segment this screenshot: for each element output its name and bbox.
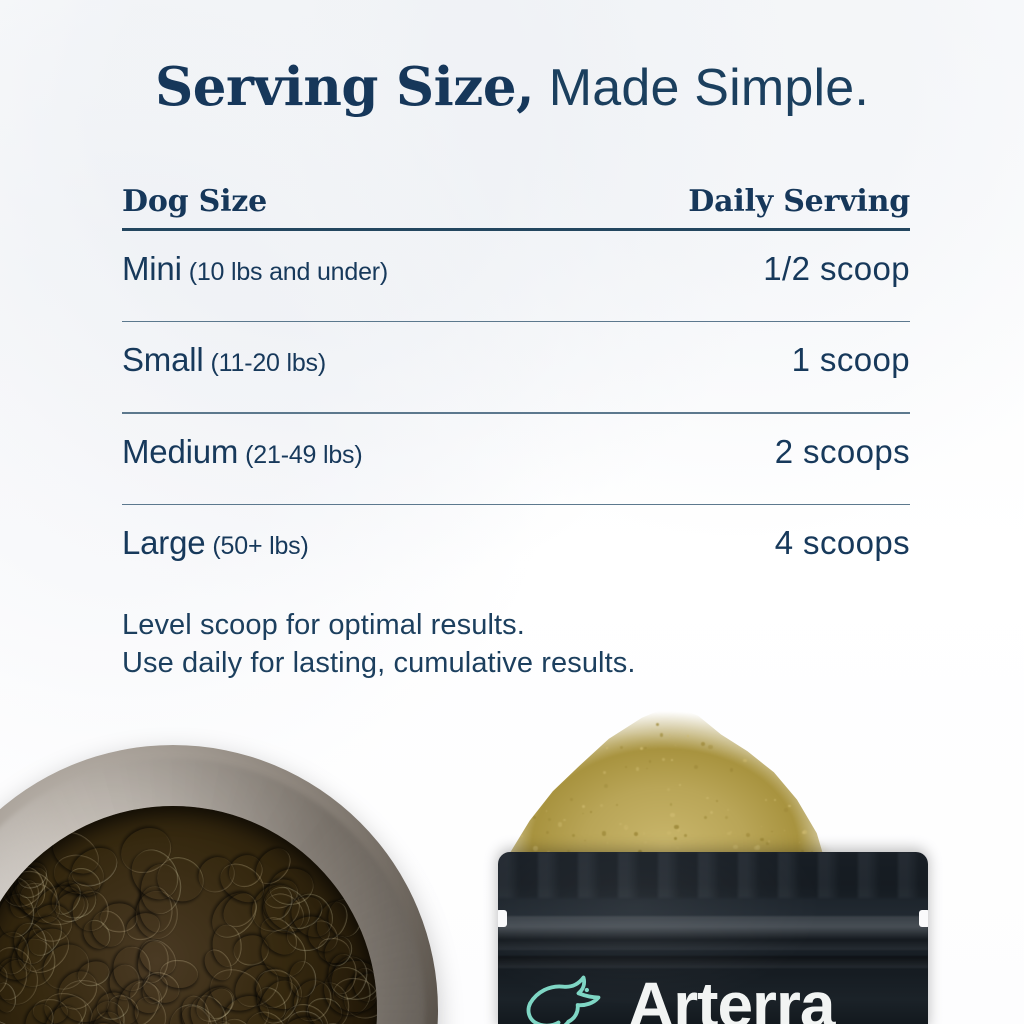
kibble-pile [0,806,377,1024]
powder-grain [793,741,797,745]
powder-grain [625,766,627,768]
powder-grain [521,733,523,735]
powder-grain [616,804,618,806]
dog-size-name: Medium [122,433,238,470]
powder-grain [768,840,770,842]
powder-grain [706,797,709,800]
column-header-dog-size: Dog Size [122,184,267,219]
brand-lockup: Arterra [520,970,834,1024]
powder-grain [795,755,798,758]
powder-grain [820,752,822,754]
powder-grain [643,832,646,835]
product-photography: Arterra [0,560,1024,1024]
powder-grain [809,801,813,805]
powder-grain [821,776,823,778]
dog-size-cell: Small(11-20 lbs) [122,341,326,379]
powder-grain [575,763,578,766]
dog-size-name: Mini [122,250,182,287]
powder-grain [808,751,809,752]
powder-grain [533,846,538,851]
powder-grain [776,734,779,737]
powder-grain [570,798,573,801]
powder-grain [644,841,647,844]
powder-grain [717,728,719,730]
powder-grain [727,832,730,835]
powder-grain [649,760,652,763]
powder-grain [710,811,713,814]
powder-grain [774,799,776,801]
powder-grain [546,831,549,834]
powder-grain [771,831,773,833]
powder-grain [746,833,750,837]
powder-grain [675,745,676,746]
table-row: Small(11-20 lbs) 1 scoop [122,322,910,412]
powder-grain [525,738,529,742]
powder-grain [660,733,664,737]
powder-grain [584,840,586,842]
daily-serving-cell: 2 scoops [775,433,910,471]
table-row-divider [122,412,910,414]
table-row: Medium(21-49 lbs) 2 scoops [122,414,910,504]
page-title: Serving Size, Made Simple. [0,56,1024,118]
powder-grain [784,767,788,771]
powder-grain [546,727,550,731]
page-title-rest: Made Simple. [534,59,869,117]
powder-grain [799,842,801,844]
powder-grain [805,797,809,801]
powder-grain [662,758,664,760]
daily-serving-cell: 1/2 scoop [763,250,910,288]
powder-grain [760,838,764,842]
powder-grain [794,755,796,757]
powder-grain [748,726,750,728]
powder-grain [538,754,542,758]
powder-grain [516,765,518,767]
dog-size-range: (50+ lbs) [212,532,308,560]
powder-grain [572,834,575,837]
powder-grain [560,743,562,745]
powder-grain [656,723,659,726]
powder-grain [667,788,670,791]
powder-grain [522,792,525,795]
dog-size-range: (21-49 lbs) [245,441,362,469]
powder-grain [640,747,644,751]
powder-grain [624,825,628,829]
column-header-daily-serving: Daily Serving [688,184,910,219]
table-row-divider [122,321,910,323]
powder-grain [684,834,687,837]
powder-grain [670,803,673,806]
powder-grain [676,847,678,849]
powder-grain [541,794,544,797]
daily-serving-cell: 4 scoops [775,524,910,562]
table-row: Mini(10 lbs and under) 1/2 scoop [122,231,910,321]
table-row-divider [122,504,910,506]
brand-wordmark: Arterra [628,973,834,1024]
powder-grain [604,784,608,788]
powder-grain [785,732,786,733]
powder-grain [787,770,790,773]
dog-size-cell: Large(50+ lbs) [122,524,309,562]
powder-grain [694,765,698,769]
powder-grain [765,799,767,801]
powder-grain [590,811,592,813]
powder-grain [546,810,548,812]
powder-grain [687,735,688,736]
powder-grain [558,822,563,827]
dog-size-range: (11-20 lbs) [211,349,326,377]
powder-grain [704,816,707,819]
dog-size-cell: Medium(21-49 lbs) [122,433,362,471]
bowl-interior [0,806,377,1024]
powder-grain [620,746,623,749]
powder-grain [582,740,585,743]
powder-grain [701,742,705,746]
dog-logo-icon [520,970,612,1024]
powder-grain [607,842,609,844]
product-pouch: Arterra [498,852,928,1024]
powder-grain [671,759,673,761]
powder-grain [521,835,523,837]
dog-size-cell: Mini(10 lbs and under) [122,250,388,288]
dog-food-bowl [0,745,438,1024]
serving-size-table: Dog Size Daily Serving Mini(10 lbs and u… [122,184,910,595]
powder-grain [548,818,551,821]
powder-grain [644,747,646,749]
powder-grain [808,751,811,754]
powder-grain [544,779,547,782]
powder-grain [730,768,733,771]
powder-grain [646,768,648,770]
powder-grain [803,830,807,834]
daily-serving-cell: 1 scoop [792,341,910,379]
powder-grain [814,738,818,742]
powder-grain [733,845,737,849]
powder-grain [727,809,729,811]
powder-grain [563,819,565,821]
dog-size-range: (10 lbs and under) [189,258,388,286]
powder-grain [679,784,680,785]
powder-grain [636,767,640,771]
powder-grain [788,805,791,808]
powder-grain [582,805,585,808]
powder-grain [522,730,525,733]
powder-grain [540,772,543,775]
powder-grain [670,813,675,818]
powder-grain [674,837,678,841]
powder-grain [716,800,718,802]
dog-size-name: Large [122,524,205,561]
powder-grain [708,745,712,749]
kibble-piece [0,1015,25,1024]
poster-canvas: Serving Size, Made Simple. Dog Size Dail… [0,0,1024,1024]
powder-grain [619,823,621,825]
powder-grain [775,748,776,749]
powder-grain [754,846,758,850]
powder-grain [600,804,603,807]
powder-grain [763,751,766,754]
powder-grain [784,830,785,831]
powder-grain [603,771,606,774]
powder-grain [803,749,807,753]
table-header-row: Dog Size Daily Serving [122,184,910,228]
page-title-emphasis: Serving Size, [155,56,534,118]
dog-size-name: Small [122,341,204,378]
powder-grain [800,767,803,770]
powder-grain [725,816,728,819]
powder-grain [761,826,762,827]
powder-grain [602,831,606,835]
powder-grain [582,813,583,814]
powder-grain [533,816,536,819]
powder-grain [606,747,608,749]
powder-grain [743,759,746,762]
powder-grain [784,808,787,811]
powder-grain [540,794,544,798]
powder-grain [669,734,671,736]
powder-grain [547,743,548,744]
powder-grain [634,832,638,836]
